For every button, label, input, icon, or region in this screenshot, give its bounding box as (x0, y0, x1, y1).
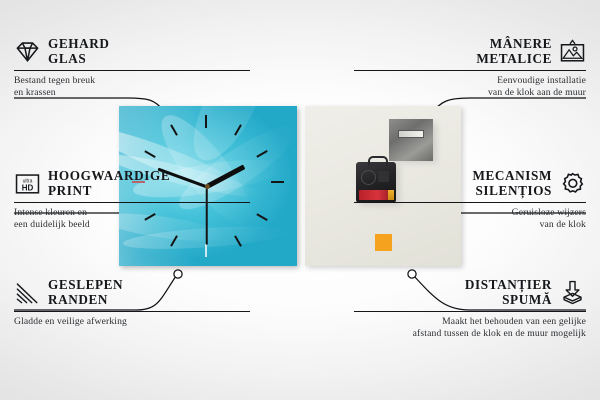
feature-title: MECANISMSILENȚIOS (472, 168, 552, 199)
divider (354, 311, 586, 312)
feature-header: DISTANȚIERSPUMĂ (354, 277, 586, 308)
feature-header: GEHARDGLAS (14, 36, 250, 67)
ultra-hd-icon: ultra HD (14, 170, 41, 197)
divider (354, 202, 586, 203)
feature-geslepen-randen: GESLEPENRANDEN Gladde en veilige afwerki… (14, 277, 250, 328)
feature-hoogwaardige-print: ultra HD HOOGWAARDIGEPRINT Intense kleur… (14, 168, 250, 232)
feature-description: Maakt het behouden van een gelijkeafstan… (354, 316, 586, 342)
divider (14, 311, 250, 312)
picture-frame-hook-icon (559, 38, 586, 65)
feature-mecanism-silentios: MECANISMSILENȚIOS Geruisloze wijzersvan … (354, 168, 586, 232)
feature-description: Intense kleuren eneen duidelijk beeld (14, 207, 250, 233)
feature-title: MÂNEREMETALICE (476, 36, 552, 67)
feature-gehard-glas: GEHARDGLAS Bestand tegen breuken krassen (14, 36, 250, 100)
feature-description: Gladde en veilige afwerking (14, 316, 250, 329)
diamond-icon (14, 38, 41, 65)
bevelled-edge-icon (14, 279, 41, 306)
feature-manere-metalice: MÂNEREMETALICE Eenvoudige installatievan… (354, 36, 586, 100)
feature-description: Eenvoudige installatievan de klok aan de… (354, 75, 586, 101)
feature-header: MÂNEREMETALICE (354, 36, 586, 67)
feature-description: Geruisloze wijzersvan de klok (354, 207, 586, 233)
mechanism-hook (368, 156, 388, 166)
feature-distantier-spuma: DISTANȚIERSPUMĂ Maakt het behouden van e… (354, 277, 586, 341)
metal-hanger-plate (389, 119, 433, 161)
hanger-slot (398, 130, 424, 138)
spacer-down-arrow-icon (559, 279, 586, 306)
divider (354, 70, 586, 71)
feature-title: GESLEPENRANDEN (48, 277, 123, 308)
gear-icon (559, 170, 586, 197)
infographic-canvas: GEHARDGLAS Bestand tegen breuken krassen… (0, 0, 600, 400)
feature-header: MECANISMSILENȚIOS (354, 168, 586, 199)
feature-description: Bestand tegen breuken krassen (14, 75, 250, 101)
foam-spacer (375, 234, 392, 251)
svg-text:HD: HD (22, 183, 34, 192)
feature-title: DISTANȚIERSPUMĂ (465, 277, 552, 308)
feature-header: GESLEPENRANDEN (14, 277, 250, 308)
feature-title: HOOGWAARDIGEPRINT (48, 168, 170, 199)
divider (14, 70, 250, 71)
feature-title: GEHARDGLAS (48, 36, 109, 67)
feature-header: ultra HD HOOGWAARDIGEPRINT (14, 168, 250, 199)
divider (14, 202, 250, 203)
